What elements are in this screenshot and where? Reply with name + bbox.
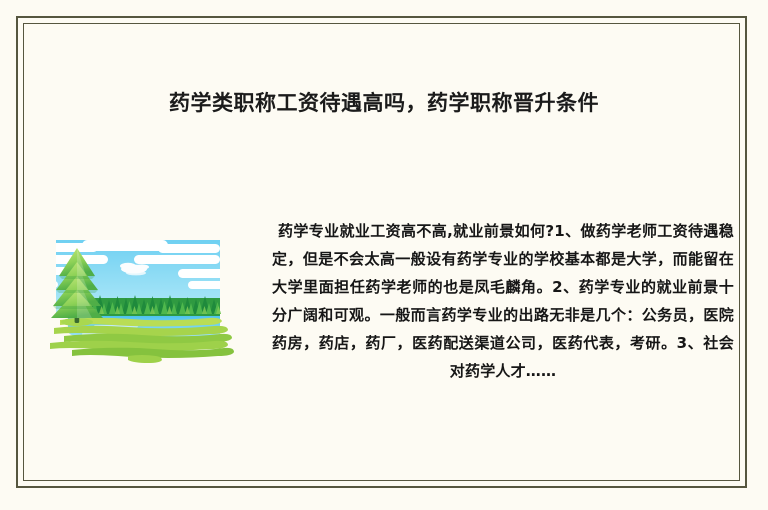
article-body-text: 药学专业就业工资高不高,就业前景如何?1、做药学老师工资待遇稳定，但是不会太高一… <box>272 217 734 385</box>
forest-lake-scene-icon <box>38 226 238 366</box>
page-title: 药学类职称工资待遇高吗，药学职称晋升条件 <box>0 88 768 118</box>
illustration-canvas <box>38 226 238 366</box>
article-content: 药学专业就业工资高不高,就业前景如何?1、做药学老师工资待遇稳定，但是不会太高一… <box>24 196 744 426</box>
landscape-illustration <box>38 226 238 366</box>
